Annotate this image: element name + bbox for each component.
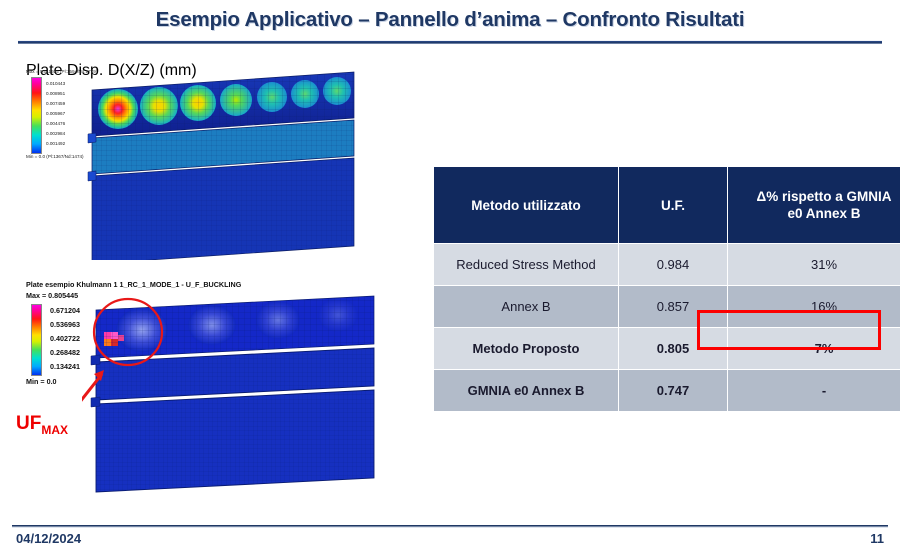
fem-bottom-tick-0: 0.671204 bbox=[50, 306, 80, 315]
fem-top-mesh-render bbox=[86, 60, 386, 260]
fem-bottom-legend-min: Min = 0.0 bbox=[26, 377, 57, 386]
fem-top-colorbar bbox=[31, 77, 42, 154]
fem-bottom-colorbar bbox=[31, 304, 42, 376]
fem-figure-bottom: Plate esempio Khulmann 1 1_RC_1_MODE_1 -… bbox=[24, 280, 384, 505]
cell-method: Metodo Proposto bbox=[434, 328, 619, 370]
table-header-delta-line1: Δ% rispetto a GMNIA bbox=[757, 189, 892, 204]
fem-bottom-tick-2: 0.402722 bbox=[50, 334, 80, 343]
fem-bottom-mesh-render bbox=[82, 282, 392, 497]
table-row[interactable]: GMNIA e0 Annex B 0.747 - bbox=[434, 370, 900, 412]
uf-max-text: UF bbox=[16, 413, 41, 434]
table-header-delta-line2: e0 Annex B bbox=[787, 206, 860, 221]
cell-delta: - bbox=[728, 370, 900, 412]
fem-top-tick-0: 0.010443 bbox=[46, 81, 65, 86]
fem-top-tick-1: 0.008951 bbox=[46, 91, 65, 96]
fem-bottom-tick-4: 0.134241 bbox=[50, 362, 80, 371]
footer-date: 04/12/2024 bbox=[16, 531, 81, 546]
uf-max-subscript: MAX bbox=[41, 423, 68, 437]
results-table: Metodo utilizzato U.F. Δ% rispetto a GMN… bbox=[433, 166, 900, 412]
table-header-delta: Δ% rispetto a GMNIA e0 Annex B bbox=[728, 167, 900, 244]
title-divider bbox=[18, 40, 882, 44]
fem-figure-top: Plate Disp. D(X/Z) (mm) Max = 0.011935 (… bbox=[24, 60, 384, 270]
fem-bottom-tick-1: 0.536963 bbox=[50, 320, 80, 329]
fem-top-tick-4: 0.004476 bbox=[46, 121, 65, 126]
cell-method: Annex B bbox=[434, 286, 619, 328]
uf-max-label: UFMAX bbox=[16, 413, 68, 437]
cell-uf: 0.747 bbox=[619, 370, 728, 412]
fem-bottom-legend-max: Max = 0.805445 bbox=[26, 291, 78, 301]
table-row[interactable]: Annex B 0.857 16% bbox=[434, 286, 900, 328]
page-title: Esempio Applicativo – Pannello d’anima –… bbox=[0, 8, 900, 32]
cell-uf: 0.857 bbox=[619, 286, 728, 328]
slide-canvas: Esempio Applicativo – Pannello d’anima –… bbox=[0, 0, 900, 560]
footer-divider bbox=[12, 525, 888, 528]
cell-method: GMNIA e0 Annex B bbox=[434, 370, 619, 412]
fem-top-tick-2: 0.007459 bbox=[46, 101, 65, 106]
cell-delta-highlighted: 7% bbox=[728, 328, 900, 370]
fem-top-tick-6: 0.001492 bbox=[46, 141, 65, 146]
cell-uf: 0.805 bbox=[619, 328, 728, 370]
fem-top-legend-min: Min = 0.0 (Pl:1367/Nd:1474) bbox=[26, 154, 84, 159]
fem-bottom-tick-3: 0.268482 bbox=[50, 348, 80, 357]
fem-top-tick-3: 0.005967 bbox=[46, 111, 65, 116]
fem-top-tick-5: 0.002984 bbox=[46, 131, 65, 136]
table-row[interactable]: Reduced Stress Method 0.984 31% bbox=[434, 244, 900, 286]
footer-page-number: 11 bbox=[870, 531, 884, 546]
table-row[interactable]: Metodo Proposto 0.805 7% bbox=[434, 328, 900, 370]
cell-delta: 16% bbox=[728, 286, 900, 328]
table-header-uf: U.F. bbox=[619, 167, 728, 244]
cell-delta: 31% bbox=[728, 244, 900, 286]
cell-uf: 0.984 bbox=[619, 244, 728, 286]
table-header-row: Metodo utilizzato U.F. Δ% rispetto a GMN… bbox=[434, 167, 900, 244]
cell-method: Reduced Stress Method bbox=[434, 244, 619, 286]
table-header-method: Metodo utilizzato bbox=[434, 167, 619, 244]
